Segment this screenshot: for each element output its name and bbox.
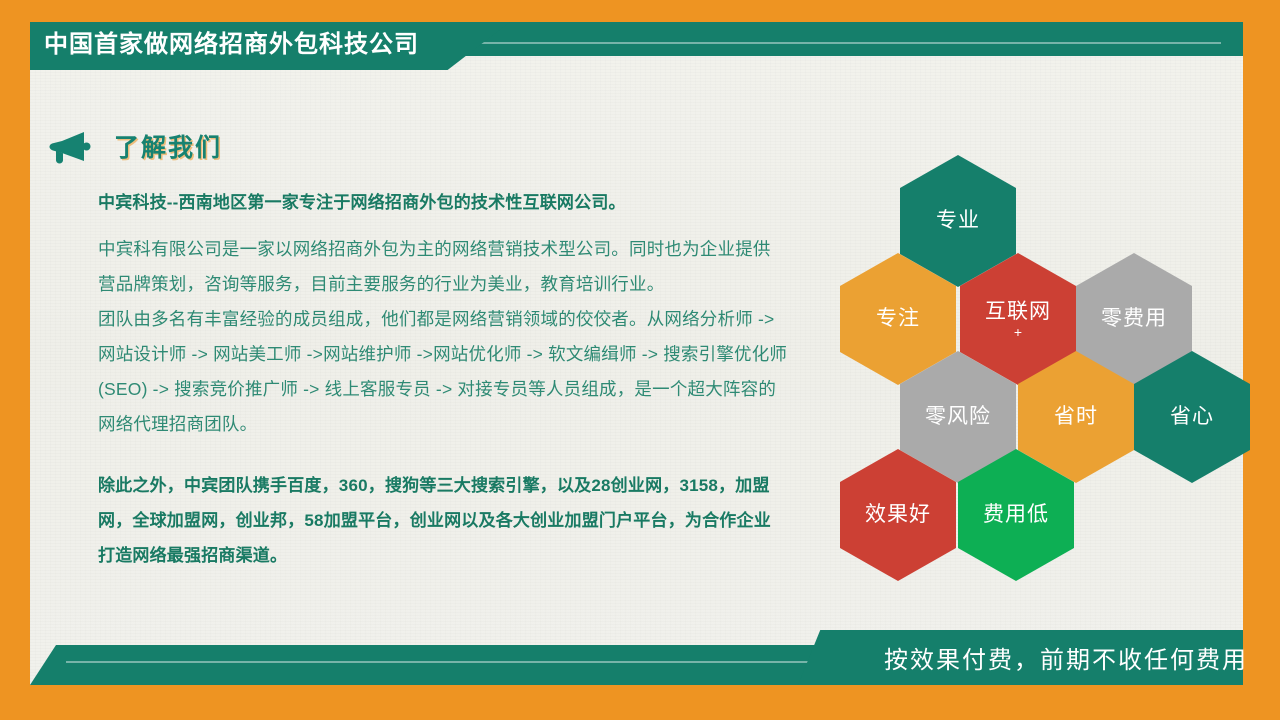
- lead-paragraph: 中宾科技--西南地区第一家专注于网络招商外包的技术性互联网公司。: [98, 188, 788, 218]
- hexagon-label: 零费用: [1101, 306, 1167, 332]
- body-paragraph-1: 中宾科有限公司是一家以网络招商外包为主的网络营销技术型公司。同时也为企业提供营品…: [98, 232, 788, 302]
- hexagon-sublabel: +: [1014, 325, 1022, 340]
- megaphone-icon: [48, 131, 92, 165]
- hexagon-label: 省心: [1170, 404, 1214, 430]
- section-title: 了解我们: [114, 133, 222, 163]
- header-hairline: [470, 42, 1221, 44]
- about-copy-block: 中宾科技--西南地区第一家专注于网络招商外包的技术性互联网公司。 中宾科有限公司…: [98, 188, 788, 573]
- slide-canvas: 中国首家做网络招商外包科技公司 了解我们 中宾科技--西南地区第一家专注于网络招…: [0, 0, 1280, 720]
- closing-paragraph: 除此之外，中宾团队携手百度，360，搜狗等三大搜索引擎，以及28创业网，3158…: [98, 468, 788, 573]
- hexagon-label: 零风险: [925, 404, 991, 430]
- page-title: 中国首家做网络招商外包科技公司: [44, 30, 419, 60]
- hexagon-label: 专业: [936, 208, 980, 234]
- hexagon-label: 效果好: [865, 502, 931, 528]
- section-heading: 了解我们: [48, 131, 222, 165]
- footer-hairline: [66, 661, 936, 663]
- body-paragraph-2: 团队由多名有丰富经验的成员组成，他们都是网络营销领域的佼佼者。从网络分析师 ->…: [98, 302, 788, 442]
- footer-slogan: 按效果付费，前期不收任何费用: [884, 646, 1248, 676]
- hexagon-label: 费用低: [983, 502, 1049, 528]
- hexagon-label: 专注: [876, 306, 920, 332]
- hexagon-cluster: 专业专注互联网+零费用零风险省时省心效果好费用低: [836, 155, 1236, 535]
- hexagon-label: 互联网: [985, 299, 1051, 325]
- hexagon-label: 省时: [1054, 404, 1098, 430]
